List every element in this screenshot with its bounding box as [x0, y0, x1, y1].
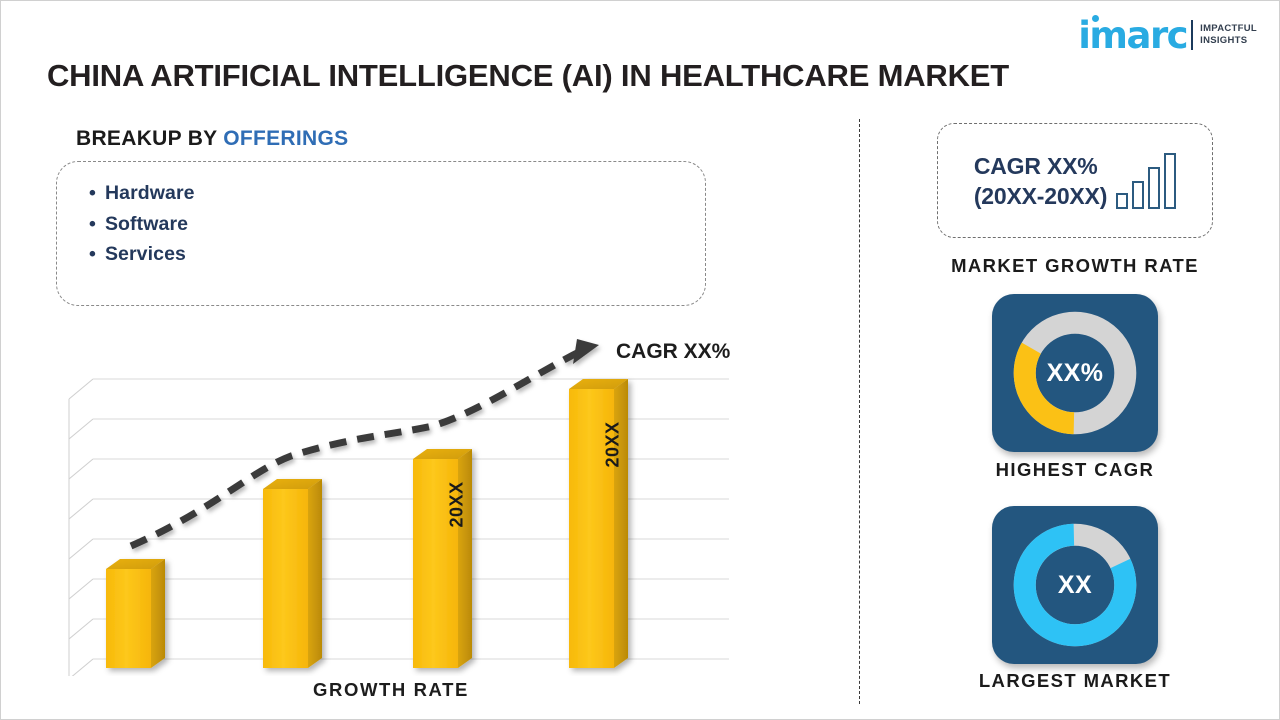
bar-chart-icon-bar-3: [1148, 167, 1160, 209]
growth-rate-bar-chart: CAGR XX% 20XX 20XX GROWTH RATE: [61, 331, 761, 711]
trend-arrowhead: [573, 339, 599, 364]
market-growth-rate-label: MARKET GROWTH RATE: [935, 255, 1215, 277]
chart-x-axis-label: GROWTH RATE: [61, 679, 721, 701]
logo-tagline-line2: INSIGHTS: [1200, 35, 1257, 47]
offerings-box: Hardware Software Services: [56, 161, 706, 306]
highest-cagr-card: XX%: [992, 294, 1158, 452]
bar-chart-icon-bar-4: [1164, 153, 1176, 209]
chart-canvas: [61, 331, 761, 676]
list-item: Services: [89, 239, 705, 270]
bar-chart-icon: [1116, 153, 1176, 209]
largest-market-value: XX: [1009, 519, 1141, 651]
cagr-period: (20XX-20XX): [974, 181, 1107, 211]
cagr-value: CAGR XX%: [974, 151, 1107, 181]
largest-market-donut: XX: [1009, 519, 1141, 651]
chart-bar: [263, 479, 322, 668]
offerings-list: Hardware Software Services: [57, 162, 705, 270]
bar-chart-icon-bar-1: [1116, 193, 1128, 209]
section-divider: [859, 119, 860, 704]
largest-market-card: XX: [992, 506, 1158, 664]
imarc-logo: imarc IMPACTFUL INSIGHTS: [1078, 15, 1257, 55]
logo-wordmark: imarc: [1078, 17, 1187, 54]
chart-trend-line: [131, 339, 599, 546]
page-title: CHINA ARTIFICIAL INTELLIGENCE (AI) IN HE…: [47, 58, 1009, 94]
chart-depth-lines: [69, 379, 93, 676]
highest-cagr-value: XX%: [1009, 307, 1141, 439]
logo-dot-icon: [1092, 15, 1099, 22]
breakup-heading-accent: OFFERINGS: [223, 127, 348, 150]
bar-value-label: 20XX: [447, 481, 468, 527]
list-item: Software: [89, 209, 705, 240]
logo-divider: [1191, 20, 1193, 50]
infographic-page: imarc IMPACTFUL INSIGHTS CHINA ARTIFICIA…: [0, 0, 1280, 720]
largest-market-label: LARGEST MARKET: [935, 670, 1215, 692]
bar-chart-icon-bar-2: [1132, 181, 1144, 209]
logo-tagline: IMPACTFUL INSIGHTS: [1200, 23, 1257, 47]
market-growth-rate-box: CAGR XX% (20XX-20XX): [937, 123, 1213, 238]
bar-value-label: 20XX: [603, 421, 624, 467]
list-item: Hardware: [89, 178, 705, 209]
highest-cagr-donut: XX%: [1009, 307, 1141, 439]
highest-cagr-label: HIGHEST CAGR: [935, 459, 1215, 481]
chart-bar: [106, 559, 165, 668]
breakup-heading: BREAKUP BY OFFERINGS: [76, 127, 348, 151]
logo-tagline-line1: IMPACTFUL: [1200, 23, 1257, 35]
chart-cagr-annotation: CAGR XX%: [616, 340, 730, 364]
cagr-text: CAGR XX% (20XX-20XX): [974, 151, 1107, 211]
breakup-heading-prefix: BREAKUP BY: [76, 127, 223, 150]
